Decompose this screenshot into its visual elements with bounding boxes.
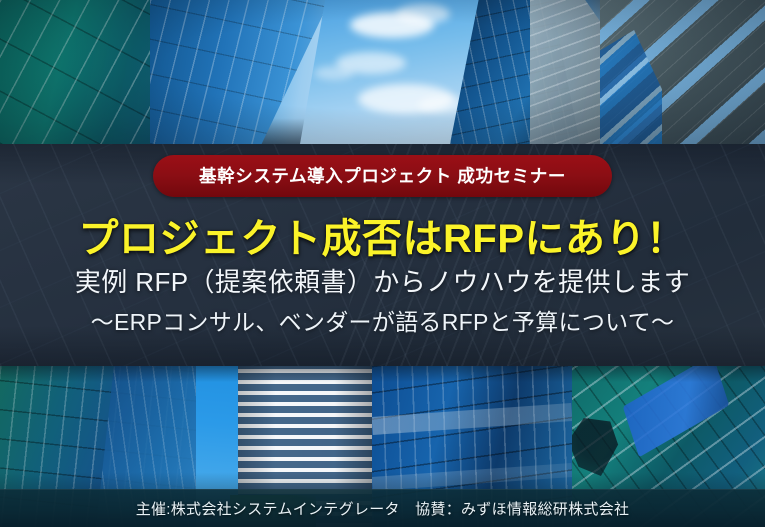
photo-vignette <box>0 0 765 144</box>
page-title: プロジェクト成否はRFPにあり！ <box>0 206 765 264</box>
seminar-poster: 基幹システム導入プロジェクト 成功セミナー プロジェクト成否はRFPにあり！ 実… <box>0 0 765 527</box>
footer-top-rule <box>0 489 765 490</box>
subtitle-line-1: 実例 RFP（提案依頼書）からノウハウを提供します <box>0 262 765 299</box>
hero-top-photo <box>0 0 765 144</box>
organizer-credits: 主催:株式会社システムインテグレータ 協賛：みずほ情報総研株式会社 <box>136 498 630 519</box>
subtitle-line-2: 〜ERPコンサル、ベンダーが語るRFPと予算について〜 <box>0 303 765 337</box>
seminar-badge: 基幹システム導入プロジェクト 成功セミナー <box>153 155 612 197</box>
footer-bar: 主催:株式会社システムインテグレータ 協賛：みずほ情報総研株式会社 <box>0 489 765 527</box>
title-banner: 基幹システム導入プロジェクト 成功セミナー プロジェクト成否はRFPにあり！ 実… <box>0 144 765 366</box>
badge-container: 基幹システム導入プロジェクト 成功セミナー <box>0 155 765 197</box>
